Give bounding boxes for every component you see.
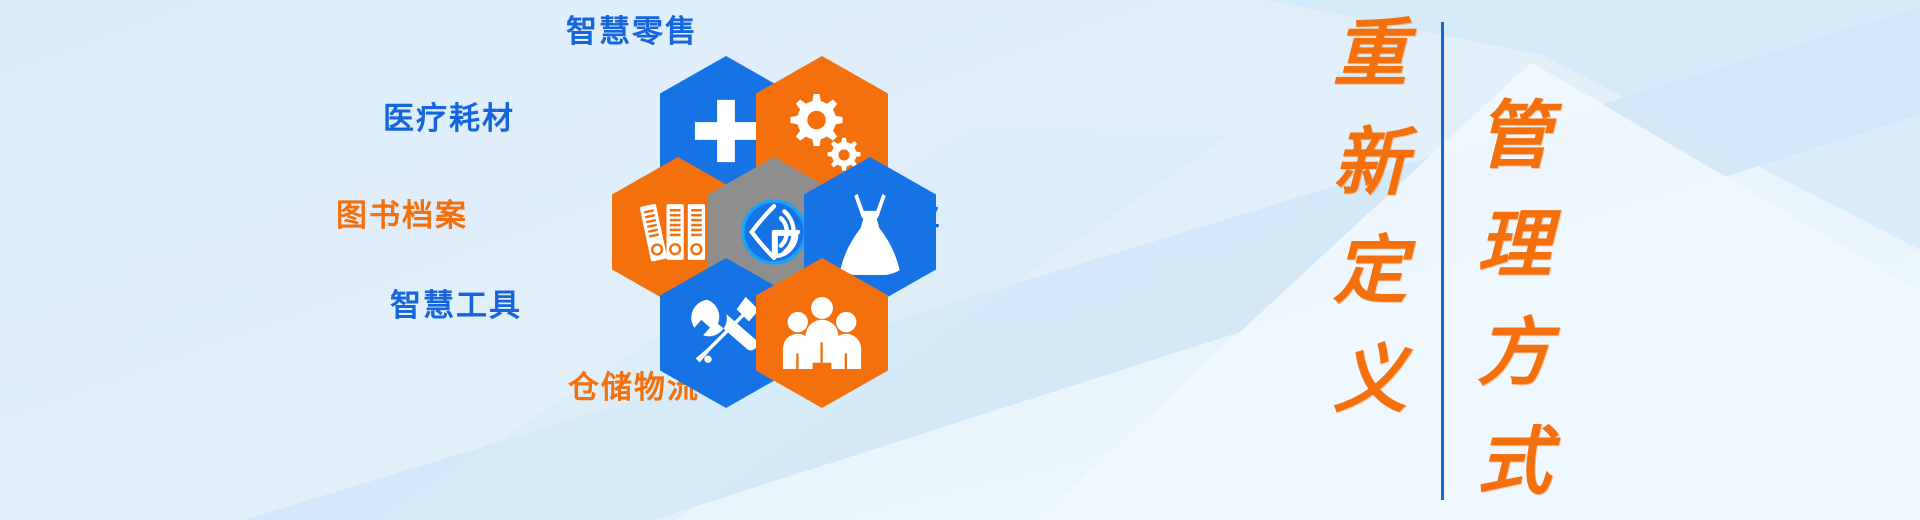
medical-cross-icon bbox=[689, 94, 763, 168]
binders-icon bbox=[637, 191, 719, 273]
calligraphy-char-8: 式 bbox=[1477, 426, 1551, 500]
calligraphy-char-1: 重 bbox=[1333, 18, 1407, 92]
calligraphy-char-4: 义 bbox=[1333, 344, 1407, 418]
calligraphy-char-3: 定 bbox=[1333, 235, 1407, 309]
promo-banner: 智慧零售 医疗耗材 智能制造 图书档案 服装行业 智慧工具 人员管理 仓储物流 bbox=[0, 0, 1920, 520]
calligraphy-left-column: 重 新 定 义 bbox=[1322, 18, 1418, 418]
hexagon-cluster bbox=[576, 56, 876, 412]
gears-icon bbox=[780, 89, 864, 173]
calligraphy-char-2: 新 bbox=[1333, 127, 1407, 201]
label-books: 图书档案 bbox=[336, 200, 468, 231]
people-group-icon bbox=[779, 293, 865, 373]
calligraphy-char-5: 管 bbox=[1477, 100, 1551, 174]
label-tools: 智慧工具 bbox=[390, 290, 522, 321]
calligraphy-right-column: 管 理 方 式 bbox=[1466, 100, 1562, 500]
calligraphy-char-6: 理 bbox=[1477, 209, 1551, 283]
wrench-screwdriver-icon bbox=[685, 292, 767, 374]
vertical-divider bbox=[1441, 22, 1444, 500]
dress-icon bbox=[830, 189, 910, 275]
calligraphy-char-7: 方 bbox=[1477, 317, 1551, 391]
label-medical: 医疗耗材 bbox=[383, 103, 515, 134]
label-retail: 智慧零售 bbox=[566, 16, 698, 47]
